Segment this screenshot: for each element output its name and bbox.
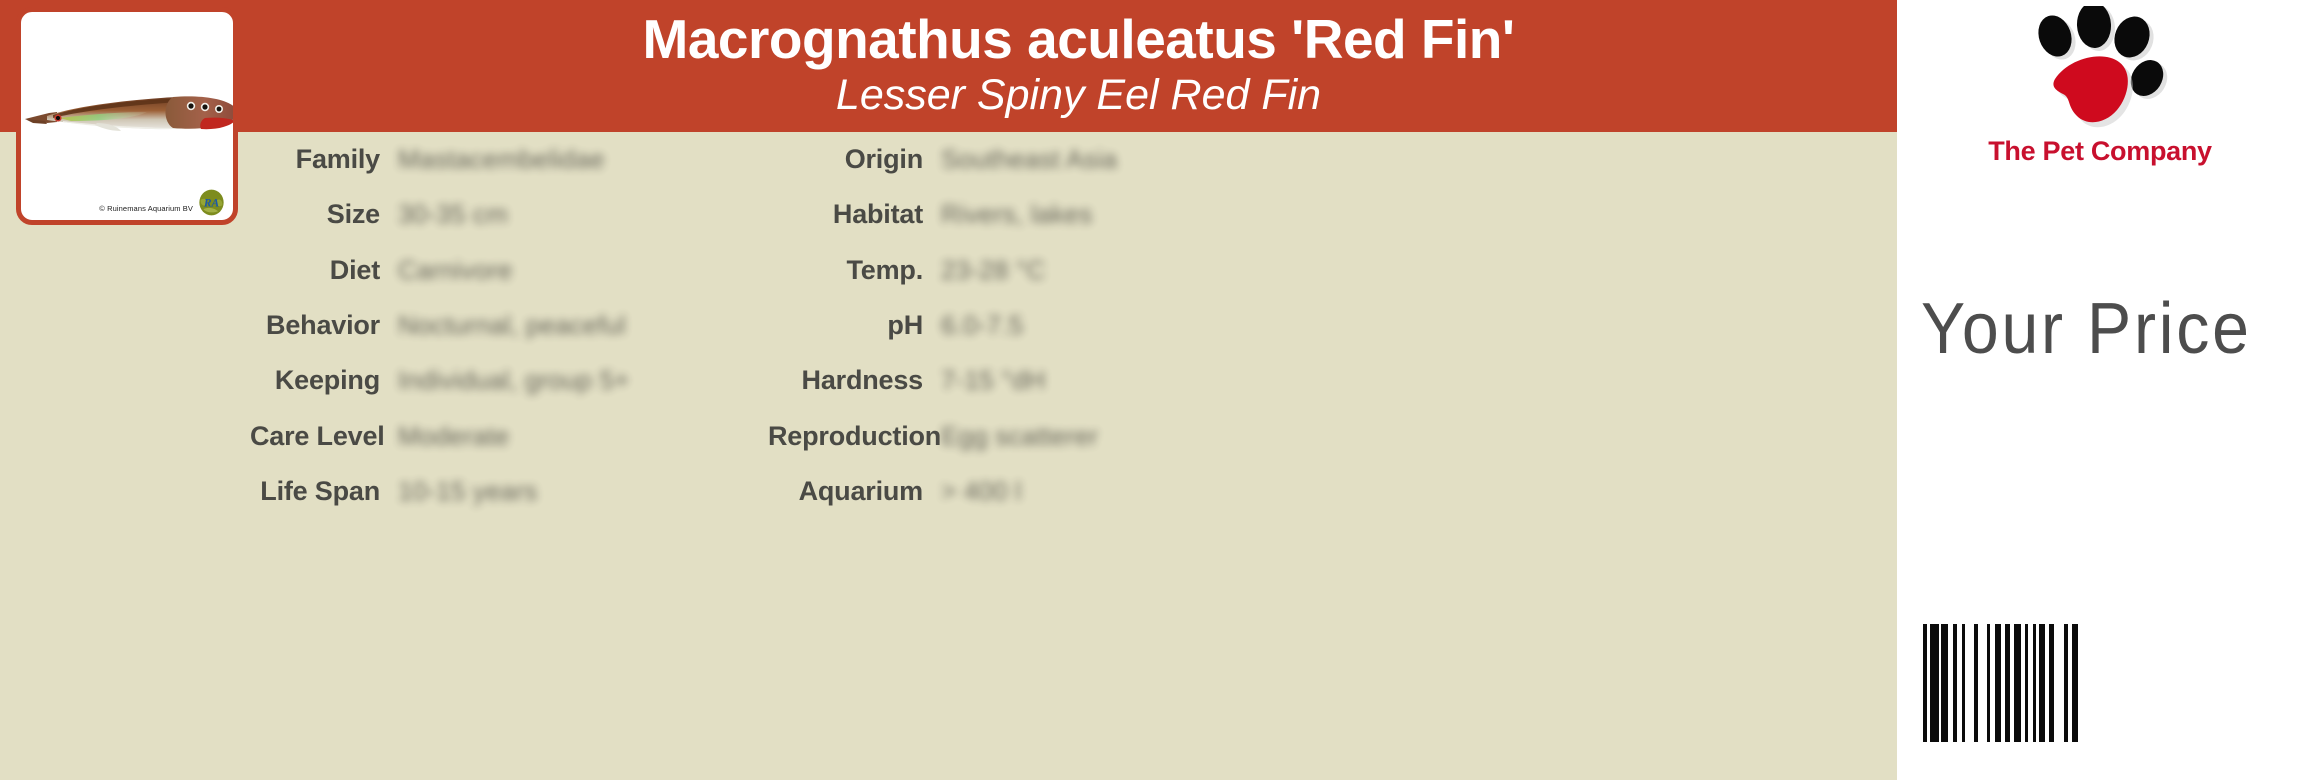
spec-row-hardness: Hardness 7-15 °dH [768,353,1408,408]
header-text-block: Macrognathus aculeatus 'Red Fin' Lesser … [260,0,1897,132]
spec-label-hardness: Hardness [768,365,923,396]
spec-value-ph: 6.0-7.5 [941,310,1023,341]
spec-value-reproduction: Egg scatterer [941,421,1098,452]
spec-row-diet: Diet Carnivore [250,243,770,298]
spec-row-habitat: Habitat Rivers, lakes [768,187,1408,242]
spec-label-reproduction: Reproduction [768,421,923,452]
spec-row-family: Family Mastacembelidae [250,132,770,187]
fish-illustration-icon [23,74,238,154]
spec-value-keeping: Individual, group 5+ [398,365,630,396]
species-common-name: Lesser Spiny Eel Red Fin [836,73,1321,118]
specification-grid: Family Mastacembelidae Size 30-35 cm Die… [0,132,1897,780]
spec-row-life-span: Life Span 10-15 years [250,464,770,519]
spec-value-size: 30-35 cm [398,199,508,230]
svg-text:RA: RA [203,198,220,210]
species-photo-card: © Ruinemans Aquarium BV RA [16,7,238,225]
spec-column-right: Origin Southeast Asia Habitat Rivers, la… [768,132,1408,780]
ruinemans-aquarium-logo-icon: RA [198,189,225,216]
spec-row-size: Size 30-35 cm [250,187,770,242]
spec-row-aquarium: Aquarium > 400 l [768,464,1408,519]
spec-row-reproduction: Reproduction Egg scatterer [768,409,1408,464]
spec-value-hardness: 7-15 °dH [941,365,1046,396]
spec-value-family: Mastacembelidae [398,144,605,175]
spec-label-behavior: Behavior [250,310,380,341]
spec-value-aquarium: > 400 l [941,476,1021,507]
spec-column-left: Family Mastacembelidae Size 30-35 cm Die… [250,132,770,780]
spec-label-keeping: Keeping [250,365,380,396]
barcode [1923,624,2078,742]
spec-label-origin: Origin [768,144,923,175]
spec-row-behavior: Behavior Nocturnal, peaceful [250,298,770,353]
spec-value-diet: Carnivore [398,255,513,286]
spec-label-size: Size [250,199,380,230]
spec-row-origin: Origin Southeast Asia [768,132,1408,187]
spec-label-family: Family [250,144,380,175]
your-price-label: Your Price [1921,288,2252,370]
spec-row-ph: pH 6.0-7.5 [768,298,1408,353]
spec-value-care-level: Moderate [398,421,509,452]
spec-label-diet: Diet [250,255,380,286]
photo-credit-text: © Ruinemans Aquarium BV [99,204,193,213]
species-scientific-name: Macrognathus aculeatus 'Red Fin' [643,11,1515,67]
retail-price-panel: The Pet Company Your Price [1897,0,2303,780]
spec-label-care-level: Care Level [250,421,380,452]
spec-value-origin: Southeast Asia [941,144,1117,175]
fish-species-price-label: Macrognathus aculeatus 'Red Fin' Lesser … [0,0,2303,780]
header-banner: Macrognathus aculeatus 'Red Fin' Lesser … [0,0,1897,132]
spec-value-behavior: Nocturnal, peaceful [398,310,626,341]
spec-label-aquarium: Aquarium [768,476,923,507]
spec-value-life-span: 10-15 years [398,476,538,507]
spec-value-habitat: Rivers, lakes [941,199,1092,230]
spec-row-keeping: Keeping Individual, group 5+ [250,353,770,408]
paw-print-icon [2025,6,2175,134]
spec-row-care-level: Care Level Moderate [250,409,770,464]
spec-label-life-span: Life Span [250,476,380,507]
spec-label-temperature: Temp. [768,255,923,286]
species-info-region: Macrognathus aculeatus 'Red Fin' Lesser … [0,0,1897,780]
brand-logo: The Pet Company [1985,6,2215,186]
brand-name-text: The Pet Company [1988,136,2212,167]
spec-label-habitat: Habitat [768,199,923,230]
spec-row-temperature: Temp. 23-28 °C [768,243,1408,298]
spec-label-ph: pH [768,310,923,341]
spec-value-temperature: 23-28 °C [941,255,1046,286]
